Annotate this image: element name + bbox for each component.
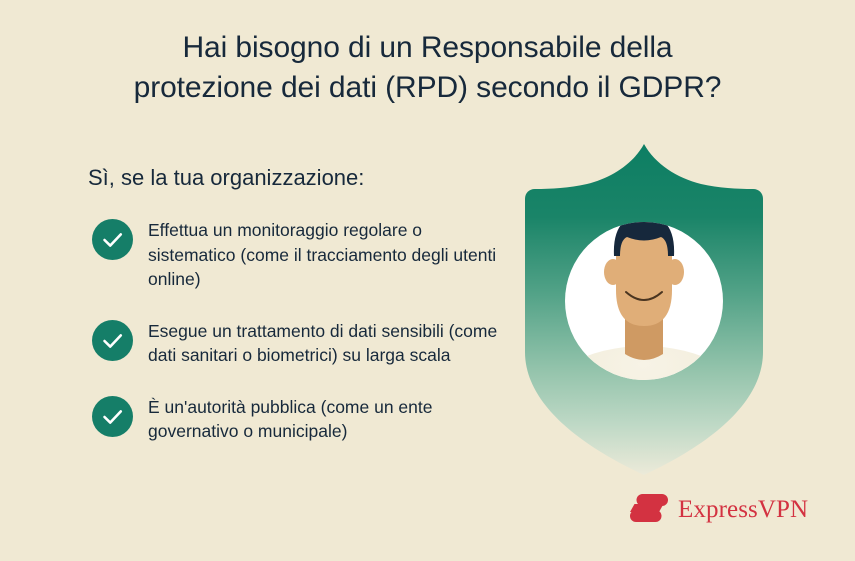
page-title-line-2: protezione dei dati (RPD) secondo il GDP… — [60, 68, 795, 108]
list-item-label: È un'autorità pubblica (come un ente gov… — [148, 395, 498, 444]
check-icon — [92, 320, 133, 361]
check-icon — [92, 396, 133, 437]
checklist: Effettua un monitoraggio regolare o sist… — [92, 218, 512, 471]
list-item-label: Esegue un trattamento di dati sensibili … — [148, 319, 498, 368]
expressvpn-e-mark-icon — [630, 492, 668, 526]
infographic-canvas: Hai bisogno di un Responsabile della pro… — [0, 0, 855, 561]
expressvpn-logo: ExpressVPN — [630, 492, 808, 526]
list-item: È un'autorità pubblica (come un ente gov… — [92, 395, 512, 444]
shield-with-person-icon — [505, 140, 797, 480]
list-item: Esegue un trattamento di dati sensibili … — [92, 319, 512, 368]
list-item: Effettua un monitoraggio regolare o sist… — [92, 218, 512, 292]
page-title-line-1: Hai bisogno di un Responsabile della — [60, 28, 795, 68]
subtitle: Sì, se la tua organizzazione: — [88, 163, 364, 193]
check-icon — [92, 219, 133, 260]
list-item-label: Effettua un monitoraggio regolare o sist… — [148, 218, 498, 292]
page-title: Hai bisogno di un Responsabile della pro… — [60, 28, 795, 108]
expressvpn-wordmark: ExpressVPN — [678, 497, 808, 522]
